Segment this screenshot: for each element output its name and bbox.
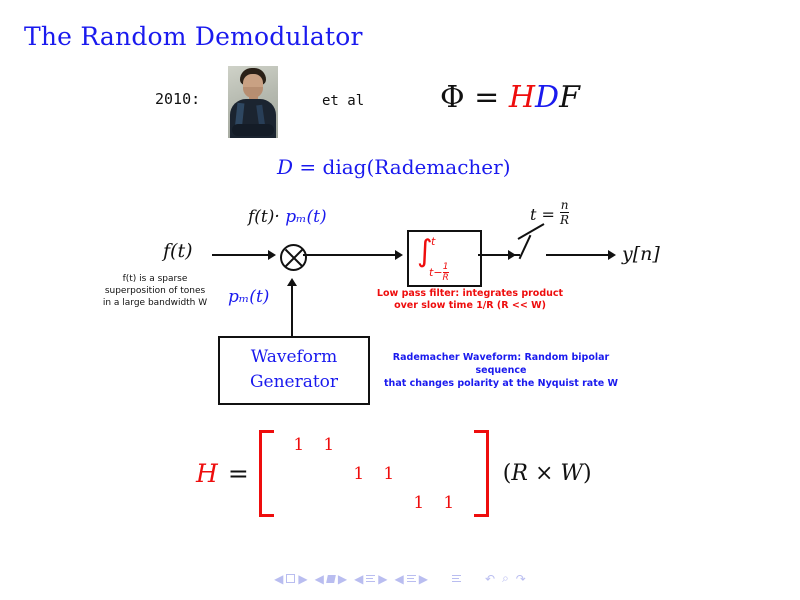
input-note-line-3: in a large bandwidth W bbox=[65, 297, 245, 309]
matrix-cell bbox=[404, 430, 434, 459]
matrix-grid: 1 1 1 1 1 1 bbox=[284, 430, 464, 517]
matrix-cell bbox=[374, 488, 404, 517]
diag-equals: = bbox=[299, 155, 316, 179]
matrix-cell bbox=[344, 488, 374, 517]
et-al-label: et al bbox=[322, 93, 364, 109]
matrix-cell bbox=[404, 459, 434, 488]
bracket-left bbox=[259, 430, 274, 517]
matrix-cell: 1 bbox=[434, 488, 464, 517]
nav-frame-icon[interactable] bbox=[326, 575, 336, 583]
nav-back-icon[interactable]: ↶ bbox=[485, 572, 495, 586]
integral-lower-limit: t−1R bbox=[429, 263, 449, 283]
rademacher-note-line-1: Rademacher Waveform: Random bipolar sequ… bbox=[370, 351, 632, 377]
input-signal-label: f(t) bbox=[163, 240, 193, 262]
lowpass-filter-note: Low pass filter: integrates product over… bbox=[365, 288, 575, 312]
matrix-h-symbol: H bbox=[196, 459, 218, 488]
nav-forward-icon[interactable]: ↷ bbox=[516, 572, 526, 586]
portrait-photo bbox=[228, 66, 278, 138]
phi-equals: = bbox=[474, 80, 499, 115]
page-title: The Random Demodulator bbox=[24, 22, 363, 51]
rademacher-note: Rademacher Waveform: Random bipolar sequ… bbox=[370, 351, 632, 390]
output-signal-label: y[n] bbox=[622, 243, 660, 265]
nav-section-group[interactable]: ◀ ▶ bbox=[395, 572, 428, 586]
phi-symbol: Φ bbox=[440, 80, 465, 115]
sampling-fraction: n R bbox=[560, 200, 569, 226]
nav-next-icon[interactable]: ▶ bbox=[378, 572, 387, 586]
sampling-t-symbol: t bbox=[530, 205, 536, 224]
nav-prev-icon[interactable]: ◀ bbox=[274, 572, 283, 586]
matrix-cell bbox=[284, 488, 314, 517]
year-label: 2010: bbox=[155, 90, 200, 108]
bracket-right bbox=[474, 430, 489, 517]
input-note-line-1: f(t) is a sparse bbox=[65, 273, 245, 285]
integral-lower-base: t− bbox=[429, 266, 443, 279]
nav-document-icon[interactable] bbox=[452, 575, 461, 583]
input-note: f(t) is a sparse superposition of tones … bbox=[65, 273, 245, 309]
wire-generator-to-mixer bbox=[291, 286, 293, 336]
nav-subsection-group[interactable]: ◀ ▶ bbox=[354, 572, 387, 586]
wire-mixer-to-integrator bbox=[303, 254, 397, 256]
dims-close: ) bbox=[583, 461, 592, 486]
nav-next-icon[interactable]: ▶ bbox=[298, 572, 307, 586]
fraction-denominator: R bbox=[443, 274, 449, 283]
phi-f-term: F bbox=[559, 80, 580, 115]
product-signal-label: f(t)· pₘ(t) bbox=[248, 207, 327, 227]
lpf-note-line-1: Low pass filter: integrates product bbox=[365, 288, 575, 300]
beamer-navigation-bar[interactable]: ◀ ▶ ◀ ▶ ◀ ▶ ◀ ▶ ↶ ⌕ ↷ bbox=[0, 571, 800, 586]
sampling-time-label: t = n R bbox=[530, 200, 569, 226]
matrix-cell: 1 bbox=[404, 488, 434, 517]
phi-h-term: H bbox=[509, 80, 535, 115]
wire-sampler-to-output bbox=[546, 254, 612, 256]
sampling-den: R bbox=[560, 214, 569, 226]
matrix-cell bbox=[434, 459, 464, 488]
diag-rhs: diag(Rademacher) bbox=[323, 155, 511, 179]
matrix-cell: 1 bbox=[344, 459, 374, 488]
fraction-numerator: 1 bbox=[443, 263, 449, 271]
waveform-generator-line-2: Generator bbox=[220, 372, 368, 392]
nav-frame-group[interactable]: ◀ ▶ bbox=[315, 572, 347, 586]
nav-slide-group[interactable]: ◀ ▶ bbox=[274, 572, 307, 586]
matrix-cell: 1 bbox=[314, 430, 344, 459]
product-label-left: f(t)· bbox=[248, 207, 280, 227]
matrix-cell bbox=[374, 430, 404, 459]
arrowhead-output bbox=[608, 250, 616, 260]
matrix-cell bbox=[314, 459, 344, 488]
nav-slide-icon[interactable] bbox=[286, 574, 295, 583]
waveform-generator-line-1: Waveform bbox=[220, 347, 368, 367]
lpf-note-line-2: over slow time 1/R (R << W) bbox=[365, 300, 575, 312]
nav-next-icon[interactable]: ▶ bbox=[338, 572, 347, 586]
matrix-cell: 1 bbox=[284, 430, 314, 459]
wire-input-to-mixer bbox=[212, 254, 270, 256]
arrowhead-carrier-in bbox=[287, 278, 297, 286]
matrix-cell bbox=[434, 430, 464, 459]
integrator-block: ∫ t t−1R bbox=[407, 230, 482, 287]
sampling-equals: = bbox=[542, 205, 555, 224]
nav-next-icon[interactable]: ▶ bbox=[419, 572, 428, 586]
matrix-cell bbox=[314, 488, 344, 517]
slide-canvas: The Random Demodulator 2010: et al Φ = H… bbox=[0, 0, 800, 600]
arrowhead-sampler-in bbox=[508, 250, 516, 260]
matrix-equals: = bbox=[228, 459, 249, 488]
waveform-generator-box: Waveform Generator bbox=[218, 336, 370, 405]
nav-prev-icon[interactable]: ◀ bbox=[354, 572, 363, 586]
mixer-symbol bbox=[280, 244, 307, 271]
arrowhead-mixer-in bbox=[268, 250, 276, 260]
matrix-cell bbox=[344, 430, 374, 459]
diag-d-symbol: D bbox=[277, 155, 293, 179]
nav-prev-icon[interactable]: ◀ bbox=[395, 572, 404, 586]
nav-prev-icon[interactable]: ◀ bbox=[315, 572, 324, 586]
input-note-line-2: superposition of tones bbox=[65, 285, 245, 297]
integral-symbol-group: ∫ t t−1R bbox=[417, 237, 433, 267]
nav-search-icon[interactable]: ⌕ bbox=[502, 571, 509, 586]
phi-equation: Φ = HDF bbox=[440, 80, 580, 115]
product-label-right: pₘ(t) bbox=[285, 207, 326, 227]
matrix-dimensions: (R × W) bbox=[503, 461, 592, 486]
dims-cols: W bbox=[560, 461, 583, 486]
arrowhead-integrator-in bbox=[395, 250, 403, 260]
nav-section-icon[interactable] bbox=[407, 575, 416, 583]
diag-equation: D = diag(Rademacher) bbox=[277, 155, 511, 179]
matrix-cell: 1 bbox=[374, 459, 404, 488]
dims-rows: R bbox=[511, 461, 528, 486]
integral-upper-limit: t bbox=[431, 235, 435, 248]
phi-d-term: D bbox=[535, 80, 559, 115]
matrix-equation: H = 1 1 1 1 1 1 (R × W) bbox=[196, 430, 592, 517]
matrix-cell bbox=[284, 459, 314, 488]
nav-subsection-icon[interactable] bbox=[366, 575, 375, 583]
integral-lower-fraction: 1R bbox=[443, 263, 449, 283]
sampling-num: n bbox=[560, 200, 569, 211]
rademacher-note-line-2: that changes polarity at the Nyquist rat… bbox=[370, 377, 632, 390]
dims-times: × bbox=[535, 461, 553, 486]
